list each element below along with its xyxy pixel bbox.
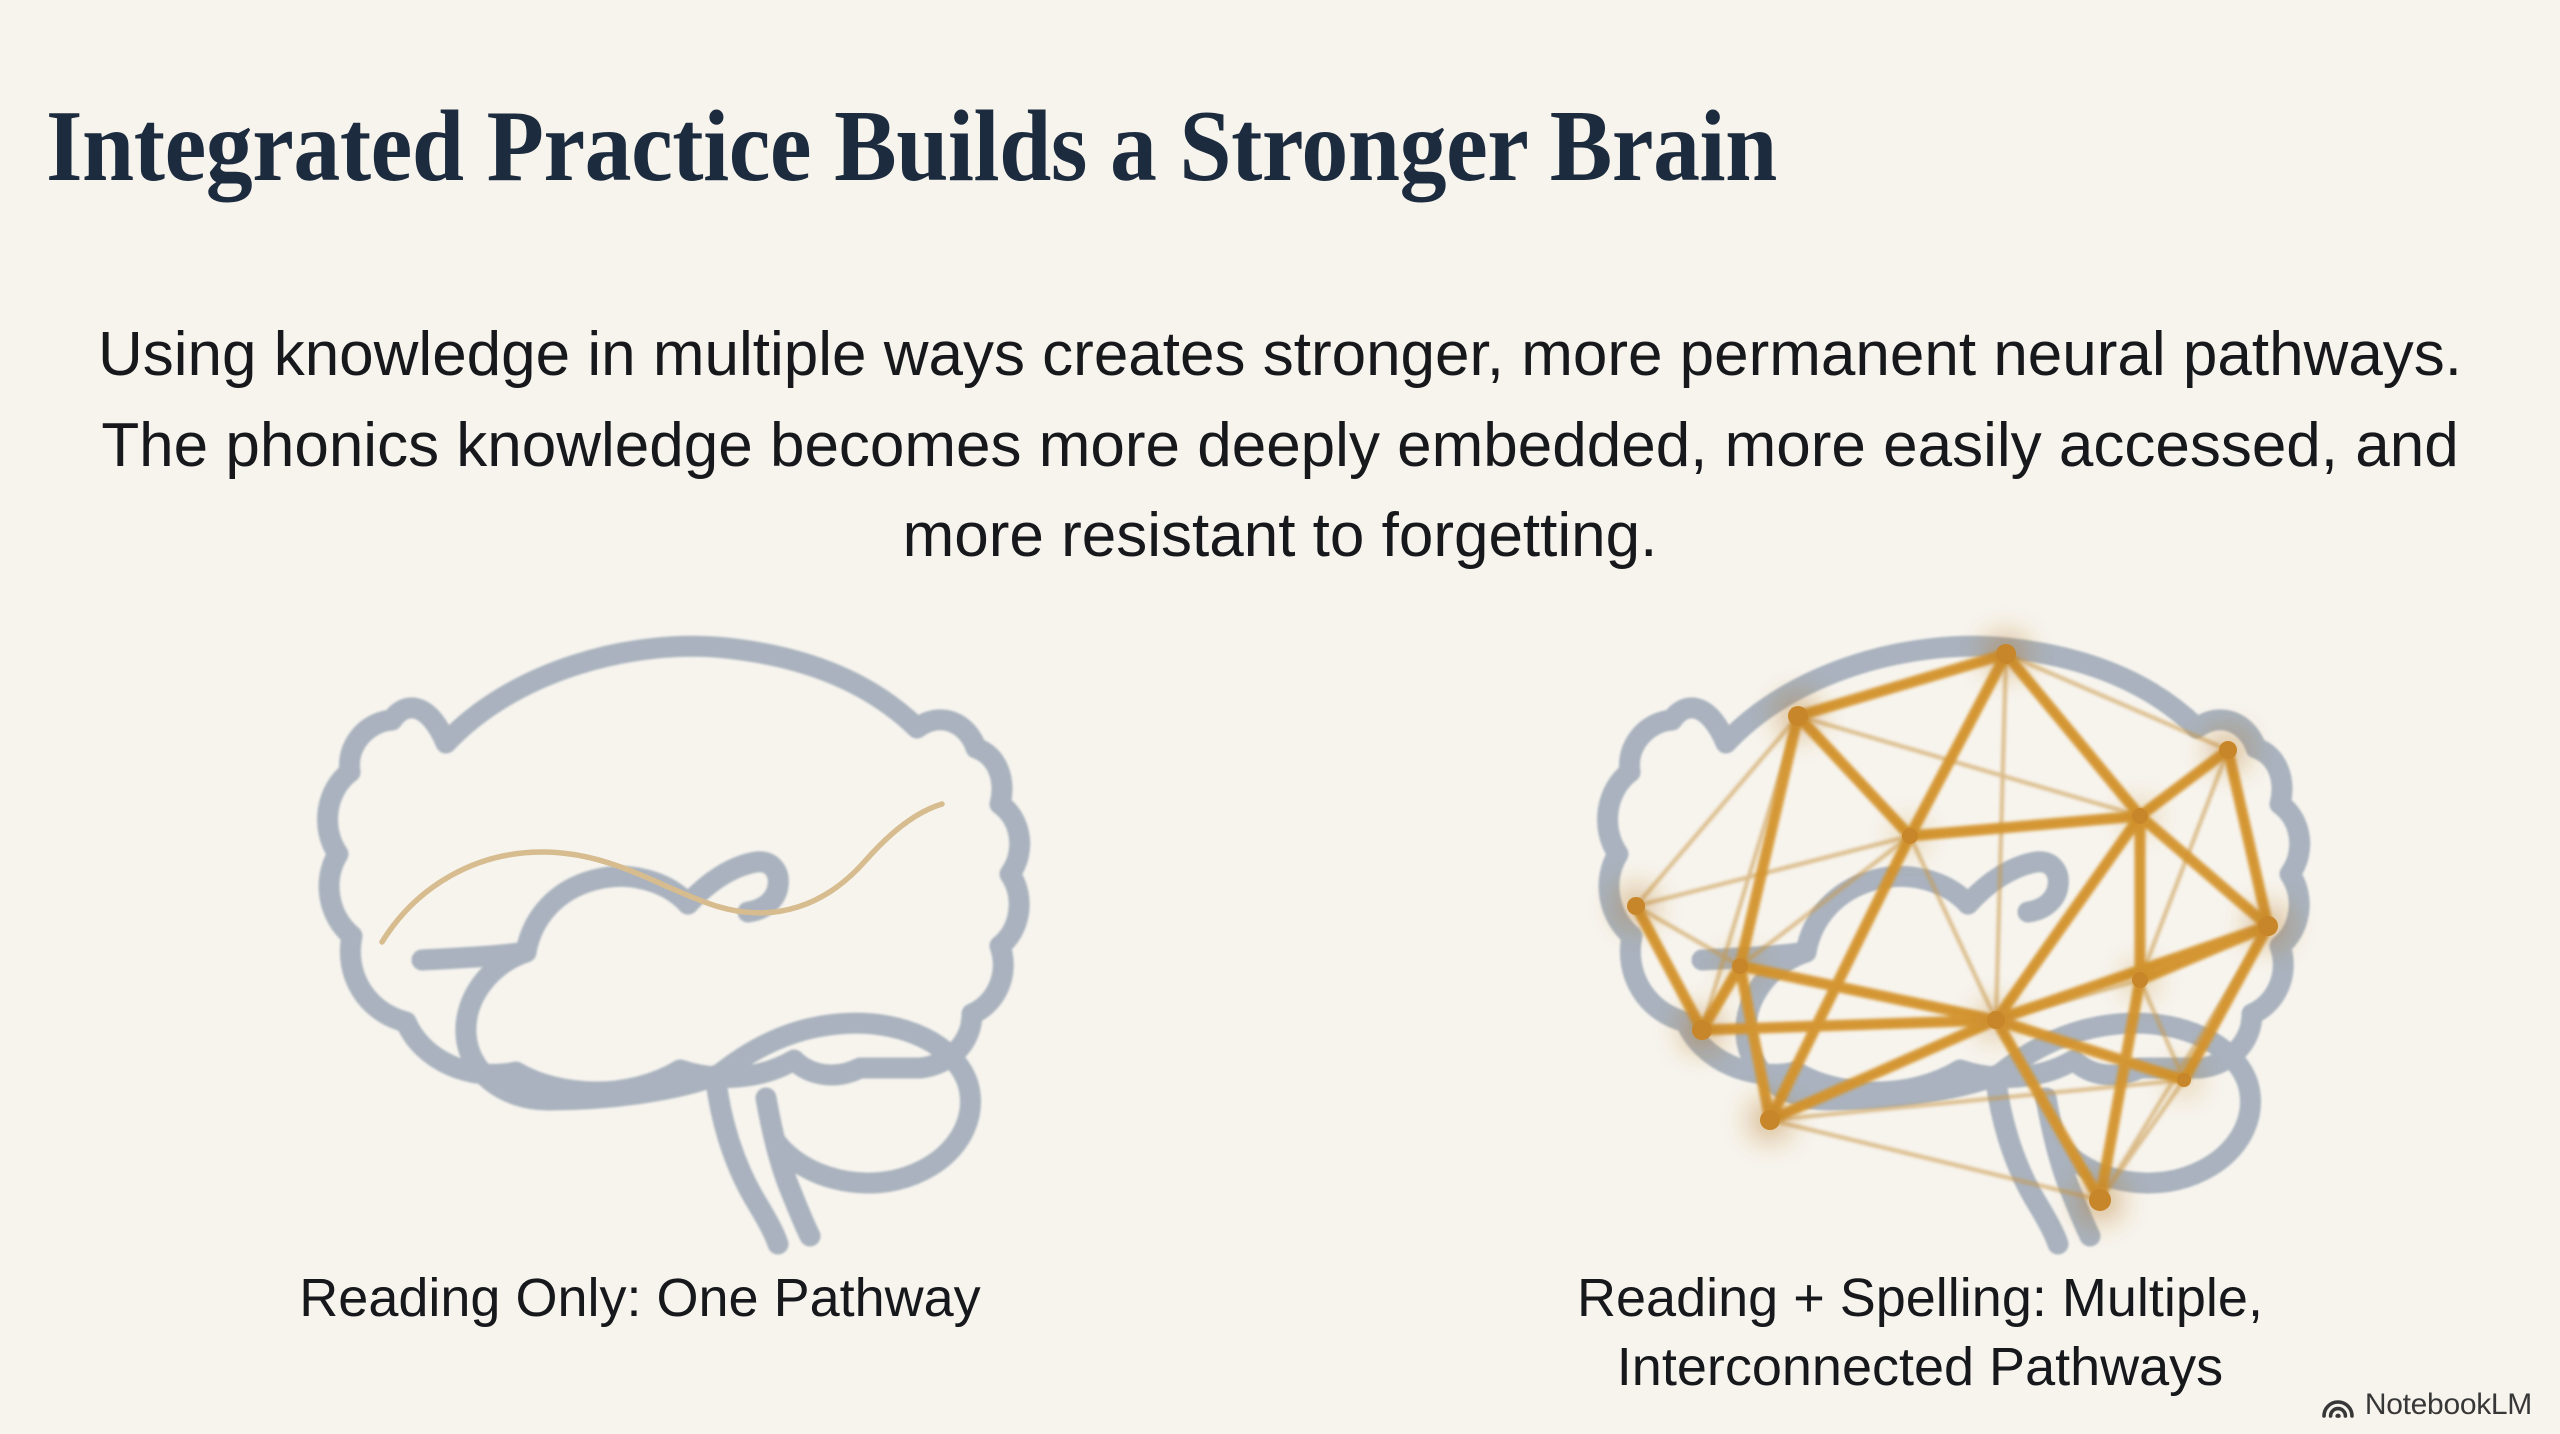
single-pathway-left xyxy=(382,804,942,942)
panel-reading-only: Reading Only: One Pathway xyxy=(50,560,1230,1333)
notebooklm-spiral-icon xyxy=(2322,1392,2356,1418)
brain-network-figure xyxy=(1440,560,2400,1260)
notebooklm-label: NotebookLM xyxy=(2365,1390,2532,1420)
panel-reading-plus-spelling: Reading + Spelling: Multiple, Interconne… xyxy=(1330,560,2510,1402)
caption-line-2: Interconnected Pathways xyxy=(1577,1333,2263,1402)
brain-single-pathway-figure xyxy=(160,560,1120,1260)
caption-line-1: Reading + Spelling: Multiple, xyxy=(1577,1264,2263,1333)
panel-caption-reading-only: Reading Only: One Pathway xyxy=(299,1264,980,1333)
notebooklm-watermark: NotebookLM xyxy=(2322,1390,2532,1420)
brain-outline-left xyxy=(328,646,1020,1244)
slide-subtitle: Using knowledge in multiple ways creates… xyxy=(85,310,2475,582)
caption-line-1: Reading Only: One Pathway xyxy=(299,1264,980,1333)
slide-root: Integrated Practice Builds a Stronger Br… xyxy=(0,0,2560,1434)
brain-comparison-panels: Reading Only: One Pathway xyxy=(0,560,2560,1370)
page-title: Integrated Practice Builds a Stronger Br… xyxy=(46,90,2318,204)
panel-caption-reading-plus-spelling: Reading + Spelling: Multiple, Interconne… xyxy=(1577,1264,2263,1402)
